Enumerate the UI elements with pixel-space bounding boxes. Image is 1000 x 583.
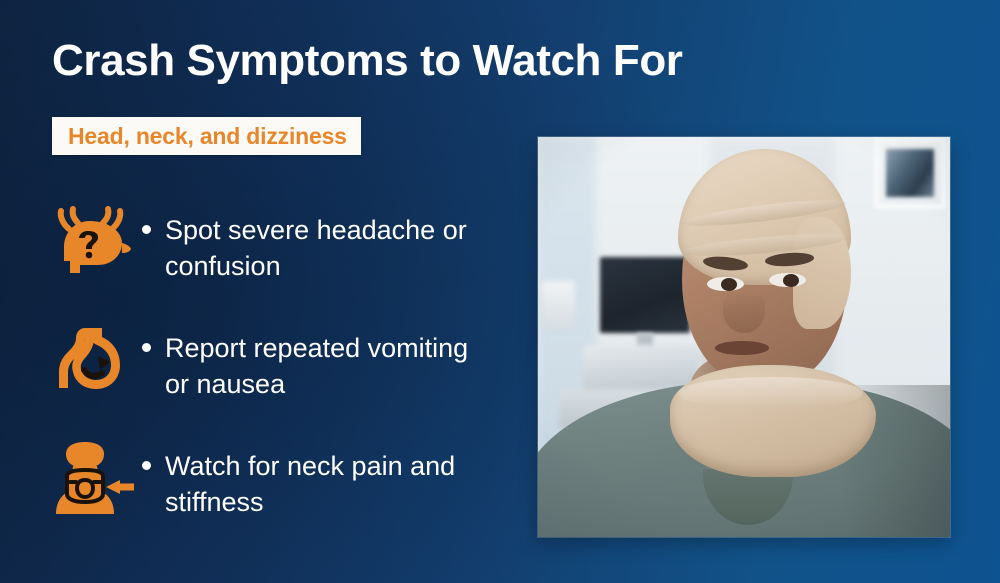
- head-question-mark-icon: [48, 200, 140, 288]
- list-item: Spot severe headache or confusion: [48, 196, 518, 314]
- page-title: Crash Symptoms to Watch For: [52, 36, 812, 86]
- list-item-label: Watch for neck pain and stiffness: [165, 448, 495, 520]
- neck-brace-person-icon: [48, 436, 140, 524]
- bullet-dot: [142, 461, 151, 470]
- subtitle-badge-label: Head, neck, and dizziness: [68, 123, 347, 150]
- list-item: Watch for neck pain and stiffness: [48, 432, 518, 550]
- list-item: Report repeated vomiting or nausea: [48, 314, 518, 432]
- bullet-dot: [142, 225, 151, 234]
- stomach-nausea-arrow-icon: [48, 318, 140, 406]
- list-item-label: Report repeated vomiting or nausea: [165, 330, 495, 402]
- photo-vignette: [538, 137, 950, 537]
- bullet-dot: [142, 343, 151, 352]
- slide-canvas: Crash Symptoms to Watch For Head, neck, …: [0, 0, 1000, 583]
- symptom-list: Spot severe headache or confusion Report…: [48, 196, 518, 550]
- subtitle-badge: Head, neck, and dizziness: [52, 117, 361, 155]
- list-item-label: Spot severe headache or confusion: [165, 212, 495, 284]
- patient-with-head-bandage-and-cervical-collar-photo: [538, 137, 950, 537]
